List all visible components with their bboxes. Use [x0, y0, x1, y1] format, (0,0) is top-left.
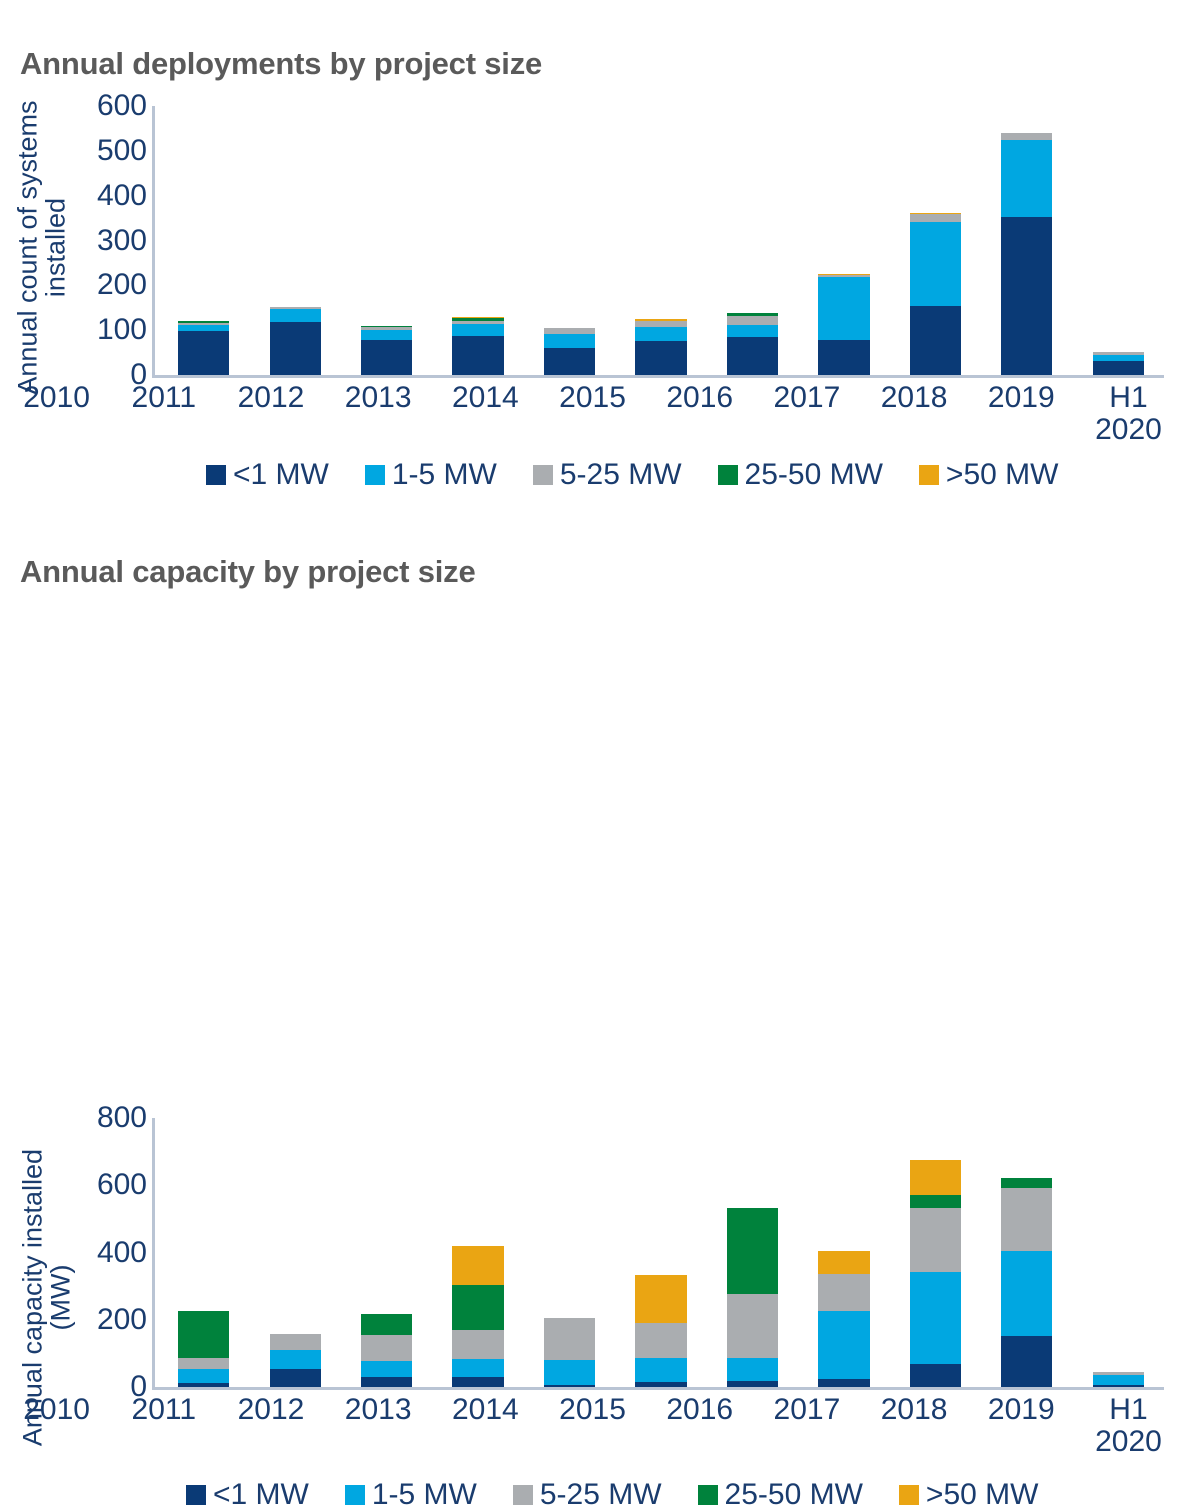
- x-tick-label: H1 2020: [1075, 382, 1182, 447]
- plot-area-capacity: 0200400600800: [152, 1118, 1164, 1390]
- bar-slot[interactable]: [158, 1118, 249, 1390]
- x-axis-line-deployments: [155, 375, 1164, 378]
- x-tick-label: 2018: [861, 382, 968, 447]
- legend-item-mw1_5[interactable]: 1-5 MW: [345, 1478, 477, 1512]
- stacked-bar[interactable]: [1001, 1178, 1052, 1390]
- stacked-bar[interactable]: [818, 274, 869, 378]
- legend-swatch-icon: [899, 1485, 919, 1505]
- x-tick-label: 2015: [539, 382, 646, 447]
- y-tick-label: 600: [97, 1168, 147, 1202]
- legend-label: 5-25 MW: [540, 1478, 662, 1512]
- x-axis-labels-deployments: 2010201120122013201420152016201720182019…: [3, 382, 1182, 447]
- legend-item-mw5_25[interactable]: 5-25 MW: [533, 458, 682, 492]
- legend-label: >50 MW: [926, 1478, 1039, 1512]
- x-tick-label: 2016: [646, 382, 753, 447]
- x-tick-label: 2012: [217, 1394, 324, 1459]
- bar-group-deployments: [158, 106, 1164, 378]
- bar-segment[interactable]: [910, 1195, 961, 1208]
- bar-slot[interactable]: [249, 106, 340, 378]
- bar-segment[interactable]: [361, 330, 412, 340]
- bar-slot[interactable]: [707, 106, 798, 378]
- bar-slot[interactable]: [890, 106, 981, 378]
- bar-segment[interactable]: [910, 1272, 961, 1364]
- bar-segment[interactable]: [452, 1246, 503, 1285]
- bar-segment[interactable]: [361, 340, 412, 378]
- bar-segment[interactable]: [1093, 1375, 1144, 1384]
- bar-segment[interactable]: [1001, 1178, 1052, 1188]
- legend-item-mw25_50[interactable]: 25-50 MW: [698, 1478, 863, 1512]
- stacked-bar[interactable]: [361, 1314, 412, 1390]
- legend-item-lt1mw[interactable]: <1 MW: [206, 458, 329, 492]
- bar-segment[interactable]: [178, 1369, 229, 1383]
- bar-slot[interactable]: [615, 106, 706, 378]
- bar-segment[interactable]: [727, 1358, 778, 1381]
- bar-slot[interactable]: [158, 106, 249, 378]
- x-tick-label: H1 2020: [1075, 1394, 1182, 1459]
- page-title-capacity: Annual capacity by project size: [20, 554, 476, 590]
- bar-segment[interactable]: [727, 1294, 778, 1358]
- bar-segment[interactable]: [818, 1251, 869, 1274]
- chart-panel-deployments: Annual deployments by project size Annua…: [0, 0, 1182, 510]
- stacked-bar[interactable]: [635, 1275, 686, 1390]
- y-tick-label: 400: [97, 1236, 147, 1270]
- bar-segment[interactable]: [1001, 1336, 1052, 1390]
- x-tick-label: 2014: [432, 1394, 539, 1459]
- legend-label: 1-5 MW: [392, 458, 497, 492]
- bar-segment[interactable]: [727, 316, 778, 325]
- plot-area-deployments: 0100200300400500600: [152, 106, 1164, 378]
- x-tick-label: 2016: [646, 1394, 753, 1459]
- bar-segment[interactable]: [544, 348, 595, 378]
- y-axis-ticks-deployments: 0100200300400500600: [51, 106, 147, 378]
- bar-segment[interactable]: [1001, 1251, 1052, 1336]
- y-tick-label: 600: [97, 89, 147, 123]
- legend-label: 5-25 MW: [560, 458, 682, 492]
- bar-segment[interactable]: [727, 1208, 778, 1293]
- stacked-bar[interactable]: [178, 321, 229, 378]
- bar-slot[interactable]: [524, 106, 615, 378]
- legend-swatch-icon: [533, 465, 553, 485]
- bar-segment[interactable]: [270, 309, 321, 322]
- bar-slot[interactable]: [798, 1118, 889, 1390]
- legend-swatch-icon: [919, 465, 939, 485]
- bar-segment[interactable]: [635, 341, 686, 378]
- bar-segment[interactable]: [361, 1361, 412, 1377]
- bar-segment[interactable]: [361, 1314, 412, 1335]
- bar-segment[interactable]: [452, 324, 503, 336]
- stacked-bar[interactable]: [452, 1246, 503, 1390]
- stacked-bar[interactable]: [635, 319, 686, 378]
- x-tick-label: 2013: [325, 382, 432, 447]
- bar-segment[interactable]: [910, 1208, 961, 1272]
- y-tick-label: 100: [97, 313, 147, 347]
- bar-segment[interactable]: [818, 1274, 869, 1311]
- bar-segment[interactable]: [635, 1358, 686, 1382]
- legend-capacity: <1 MW1-5 MW5-25 MW25-50 MW>50 MW: [186, 1478, 1074, 1512]
- page-title-deployments: Annual deployments by project size: [20, 46, 542, 82]
- legend-item-mw5_25[interactable]: 5-25 MW: [513, 1478, 662, 1512]
- stacked-bar[interactable]: [727, 1208, 778, 1390]
- stacked-bar[interactable]: [270, 307, 321, 378]
- y-axis-ticks-capacity: 0200400600800: [51, 1118, 147, 1390]
- y-tick-label: 200: [97, 268, 147, 302]
- bar-segment[interactable]: [544, 1318, 595, 1360]
- x-axis-line-capacity: [155, 1387, 1164, 1390]
- stacked-bar[interactable]: [270, 1334, 321, 1390]
- x-tick-label: 2013: [325, 1394, 432, 1459]
- bar-slot[interactable]: [707, 1118, 798, 1390]
- bar-segment[interactable]: [452, 1330, 503, 1360]
- legend-swatch-icon: [513, 1485, 533, 1505]
- bar-segment[interactable]: [1001, 217, 1052, 378]
- bar-segment[interactable]: [635, 1275, 686, 1323]
- bar-segment[interactable]: [544, 1360, 595, 1385]
- x-tick-label: 2010: [3, 1394, 110, 1459]
- x-tick-label: 2010: [3, 382, 110, 447]
- bar-segment[interactable]: [910, 306, 961, 378]
- legend-swatch-icon: [345, 1485, 365, 1505]
- legend-swatch-icon: [365, 465, 385, 485]
- bar-segment[interactable]: [361, 1335, 412, 1361]
- x-tick-label: 2019: [968, 1394, 1075, 1459]
- x-tick-label: 2011: [110, 1394, 217, 1459]
- stacked-bar[interactable]: [1001, 133, 1052, 378]
- bar-slot[interactable]: [524, 1118, 615, 1390]
- bar-slot[interactable]: [341, 106, 432, 378]
- bar-segment[interactable]: [910, 214, 961, 222]
- legend-item-gt50mw[interactable]: >50 MW: [919, 458, 1059, 492]
- bar-slot[interactable]: [1073, 1118, 1164, 1390]
- bar-slot[interactable]: [432, 106, 523, 378]
- legend-item-mw25_50[interactable]: 25-50 MW: [718, 458, 883, 492]
- bar-segment[interactable]: [727, 325, 778, 337]
- bar-segment[interactable]: [1001, 1188, 1052, 1252]
- bar-segment[interactable]: [178, 331, 229, 378]
- x-tick-label: 2017: [753, 1394, 860, 1459]
- x-tick-label: 2014: [432, 382, 539, 447]
- bar-segment[interactable]: [635, 1323, 686, 1358]
- bar-segment[interactable]: [818, 277, 869, 340]
- legend-item-gt50mw[interactable]: >50 MW: [899, 1478, 1039, 1512]
- bar-segment[interactable]: [544, 334, 595, 347]
- y-tick-label: 800: [97, 1101, 147, 1135]
- bar-slot[interactable]: [1073, 106, 1164, 378]
- legend-swatch-icon: [186, 1485, 206, 1505]
- legend-swatch-icon: [206, 465, 226, 485]
- legend-item-mw1_5[interactable]: 1-5 MW: [365, 458, 497, 492]
- legend-deployments: <1 MW1-5 MW5-25 MW25-50 MW>50 MW: [206, 458, 1094, 492]
- bar-segment[interactable]: [178, 1358, 229, 1368]
- x-tick-label: 2011: [110, 382, 217, 447]
- bar-segment[interactable]: [910, 222, 961, 306]
- bar-segment[interactable]: [910, 1160, 961, 1195]
- legend-label: 25-50 MW: [745, 458, 883, 492]
- bar-segment[interactable]: [1001, 140, 1052, 217]
- bar-slot[interactable]: [249, 1118, 340, 1390]
- bar-group-capacity: [158, 1118, 1164, 1390]
- x-axis-labels-capacity: 2010201120122013201420152016201720182019…: [3, 1394, 1182, 1459]
- bar-segment[interactable]: [635, 327, 686, 340]
- x-tick-label: 2012: [217, 382, 324, 447]
- legend-item-lt1mw[interactable]: <1 MW: [186, 1478, 309, 1512]
- x-tick-label: 2017: [753, 382, 860, 447]
- legend-swatch-icon: [718, 465, 738, 485]
- bar-slot[interactable]: [341, 1118, 432, 1390]
- bar-segment[interactable]: [452, 1359, 503, 1376]
- y-tick-label: 200: [97, 1303, 147, 1337]
- bar-slot[interactable]: [981, 106, 1072, 378]
- stacked-bar[interactable]: [544, 1318, 595, 1390]
- bar-segment[interactable]: [270, 322, 321, 378]
- legend-label: 25-50 MW: [725, 1478, 863, 1512]
- legend-label: <1 MW: [233, 458, 329, 492]
- chart-panel-capacity: Annual capacity by project size Annual c…: [0, 510, 1182, 1035]
- bar-segment[interactable]: [452, 1285, 503, 1329]
- stacked-bar[interactable]: [361, 326, 412, 378]
- stacked-bar[interactable]: [452, 317, 503, 378]
- bar-slot[interactable]: [798, 106, 889, 378]
- bar-slot[interactable]: [615, 1118, 706, 1390]
- bar-segment[interactable]: [818, 340, 869, 378]
- y-tick-label: 400: [97, 179, 147, 213]
- bar-segment[interactable]: [270, 1350, 321, 1369]
- x-tick-label: 2018: [861, 1394, 968, 1459]
- bar-segment[interactable]: [452, 336, 503, 378]
- bar-slot[interactable]: [981, 1118, 1072, 1390]
- stacked-bar[interactable]: [544, 328, 595, 378]
- bar-segment[interactable]: [727, 337, 778, 378]
- bar-slot[interactable]: [432, 1118, 523, 1390]
- legend-label: >50 MW: [946, 458, 1059, 492]
- stacked-bar[interactable]: [727, 313, 778, 378]
- y-tick-label: 300: [97, 224, 147, 258]
- stacked-bar[interactable]: [910, 1160, 961, 1390]
- legend-label: <1 MW: [213, 1478, 309, 1512]
- legend-label: 1-5 MW: [372, 1478, 477, 1512]
- bar-slot[interactable]: [890, 1118, 981, 1390]
- y-tick-label: 500: [97, 134, 147, 168]
- stacked-bar[interactable]: [818, 1251, 869, 1390]
- stacked-bar[interactable]: [910, 213, 961, 378]
- x-tick-label: 2015: [539, 1394, 646, 1459]
- bar-segment[interactable]: [178, 1311, 229, 1358]
- legend-swatch-icon: [698, 1485, 718, 1505]
- bar-segment[interactable]: [818, 1311, 869, 1380]
- x-tick-label: 2019: [968, 382, 1075, 447]
- stacked-bar[interactable]: [178, 1311, 229, 1390]
- bar-segment[interactable]: [270, 1334, 321, 1351]
